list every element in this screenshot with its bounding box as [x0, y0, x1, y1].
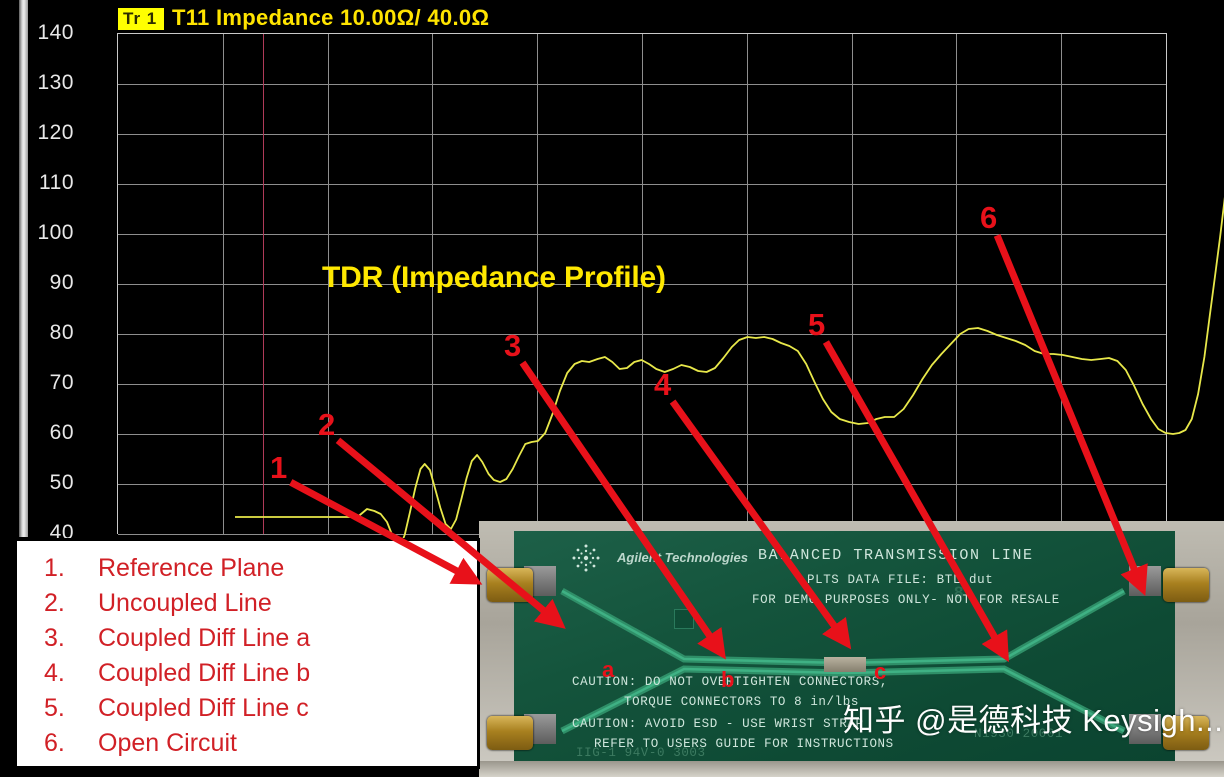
pcb-caution-1b: TORQUE CONNECTORS TO 8 in/lbs — [624, 695, 859, 709]
legend-item: 2.Uncoupled Line — [17, 589, 477, 624]
legend-item-label: Reference Plane — [98, 554, 284, 583]
annotation-number: 6 — [980, 202, 997, 233]
legend-item-label: Coupled Diff Line c — [98, 694, 309, 723]
watermark: 知乎 @是德科技 Keysigh... — [843, 695, 1223, 740]
sma-connector-top-right[interactable] — [1163, 568, 1209, 602]
y-tick-label: 140 — [0, 22, 74, 43]
legend-item: 6.Open Circuit — [17, 729, 477, 764]
pcb-letter-a: a — [602, 657, 614, 683]
pcb-caution-2: CAUTION: AVOID ESD - USE WRIST STRAP — [572, 717, 864, 731]
legend-item-number: 5. — [44, 694, 98, 723]
legend-item: 1.Reference Plane — [17, 554, 477, 589]
pcb-brand-label: Agilent Technologies — [617, 550, 748, 565]
sma-connector-top-left[interactable] — [487, 568, 533, 602]
legend-item-number: 2. — [44, 589, 98, 618]
y-tick-label: 60 — [0, 422, 74, 443]
trace-badge[interactable]: Tr 1 — [118, 8, 164, 30]
legend-item-label: Coupled Diff Line b — [98, 659, 310, 688]
annotation-number: 3 — [504, 330, 521, 361]
pcb-demo-note: FOR DEMO PURPOSES ONLY- NOT FOR RESALE — [752, 593, 1060, 607]
pcb-pad-left — [674, 609, 694, 629]
legend-item-number: 3. — [44, 624, 98, 653]
legend-item: 5.Coupled Diff Line c — [17, 694, 477, 729]
trace-line — [235, 67, 1224, 546]
grid-line-vertical — [223, 34, 224, 534]
legend-item-number: 6. — [44, 729, 98, 758]
pcb-title: BALANCED TRANSMISSION LINE — [758, 547, 1034, 564]
pcb-plate-edge — [479, 761, 1224, 777]
legend-item: 4.Coupled Diff Line b — [17, 659, 477, 694]
pcb-letter-b: b — [721, 667, 734, 693]
y-tick-label: 130 — [0, 72, 74, 93]
chart-overlay-title: TDR (Impedance Profile) — [322, 261, 666, 295]
y-tick-label: 70 — [0, 372, 74, 393]
annotation-number: 5 — [808, 309, 825, 340]
sma-connector-bottom-left[interactable] — [487, 716, 533, 750]
y-tick-label: 100 — [0, 222, 74, 243]
screenshot-root: Tr 1 T11 Impedance 10.00Ω/ 40.0Ω 1401301… — [0, 0, 1224, 777]
legend-rows: 1.Reference Plane2.Uncoupled Line3.Coupl… — [17, 554, 477, 764]
legend-item-number: 1. — [44, 554, 98, 583]
y-tick-label: 110 — [0, 172, 74, 193]
sma-tab-top-right — [1129, 566, 1161, 596]
y-tick-label: 50 — [0, 472, 74, 493]
agilent-star-icon — [569, 541, 603, 575]
pcb-letter-c: c — [874, 659, 886, 685]
y-tick-label: 90 — [0, 272, 74, 293]
instrument-screen: Tr 1 T11 Impedance 10.00Ω/ 40.0Ω 1401301… — [0, 0, 1224, 540]
legend-item-label: Uncoupled Line — [98, 589, 272, 618]
pcb-midpoint-component — [824, 657, 866, 672]
legend-box: 1.Reference Plane2.Uncoupled Line3.Coupl… — [14, 538, 480, 769]
pcb-data-file: PLTS DATA FILE: BTL.dut — [807, 573, 993, 587]
impedance-trace — [235, 67, 1224, 567]
legend-item: 3.Coupled Diff Line a — [17, 624, 477, 659]
pcb-ul-mark: IIG-1 94V-0 3003 — [576, 746, 706, 760]
y-tick-label: 120 — [0, 122, 74, 143]
legend-item-label: Coupled Diff Line a — [98, 624, 310, 653]
annotation-number: 2 — [318, 409, 335, 440]
y-tick-label: 80 — [0, 322, 74, 343]
legend-item-number: 4. — [44, 659, 98, 688]
annotation-number: 1 — [270, 452, 287, 483]
legend-item-label: Open Circuit — [98, 729, 237, 758]
annotation-number: 4 — [654, 369, 671, 400]
trace-title-label: T11 Impedance 10.00Ω/ 40.0Ω — [172, 5, 489, 31]
